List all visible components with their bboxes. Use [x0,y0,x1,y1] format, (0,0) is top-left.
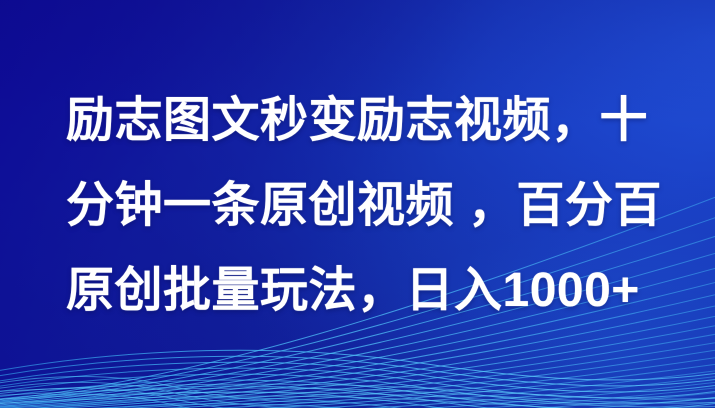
headline-line-3: 原创批量玩法，日入1000+ [0,248,715,333]
headline-block: 励志图文秒变励志视频，十 分钟一条原创视频 ，百分百 原创批量玩法，日入1000… [0,0,715,408]
headline-line-2: 分钟一条原创视频 ，百分百 [0,163,715,248]
promo-banner: 励志图文秒变励志视频，十 分钟一条原创视频 ，百分百 原创批量玩法，日入1000… [0,0,715,408]
headline-line-1: 励志图文秒变励志视频，十 [0,78,715,163]
